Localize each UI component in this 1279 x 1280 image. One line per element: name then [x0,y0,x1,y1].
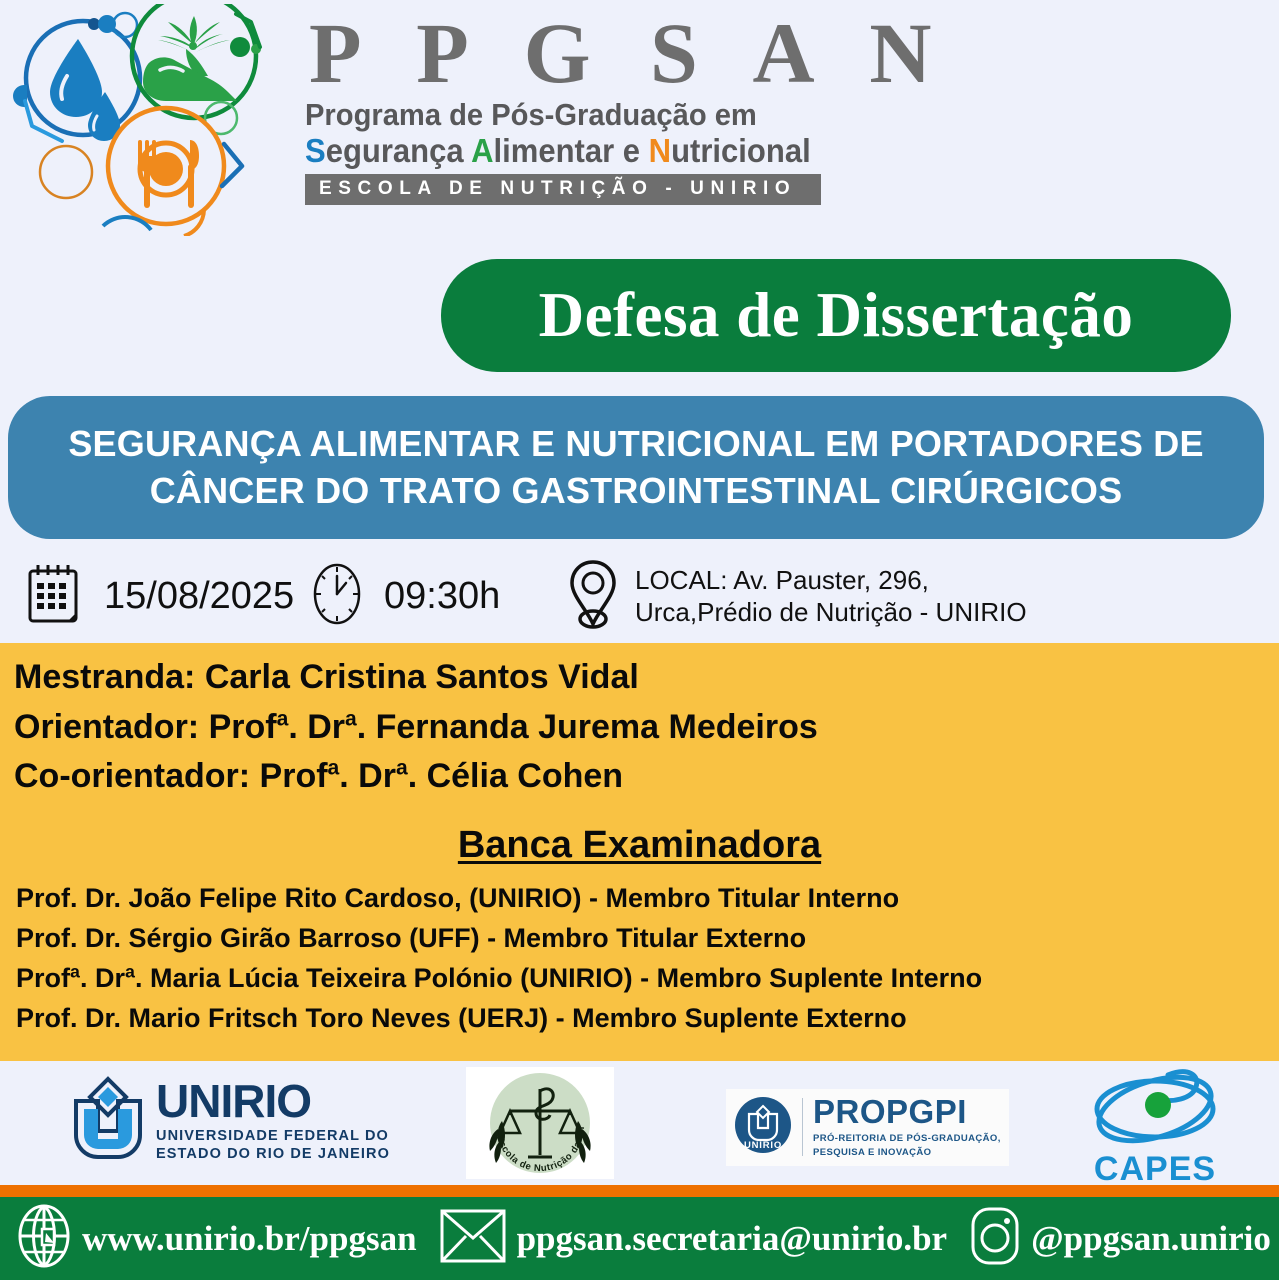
advisor-mid: . Dr [288,708,345,746]
thesis-title-line1: SEGURANÇA ALIMENTAR E NUTRICIONAL EM POR… [68,421,1203,467]
poster-root: P P G S A N Programa de Pós-Graduação em… [0,0,1279,1280]
advisor-label: Orientador: Prof [14,708,277,746]
logo-alimentar-rest: limentar e [493,132,648,169]
map-pin-icon [565,558,621,635]
location-line2: Urca,Prédio de Nutrição - UNIRIO [635,596,1027,629]
time-item: 09:30h [310,561,559,632]
board-heading: Banca Examinadora [0,824,1279,867]
date-item: 15/08/2025 [26,561,304,632]
unirio-sub2: ESTADO DO RIO DE JANEIRO [156,1145,390,1163]
logo-tagline-line1: Programa de Pós-Graduação em [305,98,817,133]
location-item: LOCAL: Av. Pauster, 296, Urca,Prédio de … [565,558,1027,635]
thesis-title-banner: SEGURANÇA ALIMENTAR E NUTRICIONAL EM POR… [8,396,1264,539]
website-text: www.unirio.br/ppgsan [82,1219,417,1259]
escola-nutricao-seal-icon: Escola de Nutrição da Unirio [466,1166,614,1183]
board-member: Profª. Drª. Maria Lúcia Teixeira Polónio… [16,959,1279,999]
capes-logo: CAPES [1080,1069,1230,1186]
propgpi-logo: UNIRIO PROPGPI PRÓ-REITORIA DE PÓS-GRADU… [726,1089,1009,1166]
propgpi-sub2: PESQUISA E INOVAÇÃO [813,1147,1001,1160]
student-line: Mestranda: Carla Cristina Santos Vidal [14,653,1279,703]
instagram-contact[interactable]: @ppgsan.unirio [969,1205,1271,1272]
website-contact[interactable]: www.unirio.br/ppgsan [16,1204,417,1273]
unirio-mark-icon [70,1075,146,1166]
sponsor-logos: UNIRIO UNIVERSIDADE FEDERAL DO ESTADO DO… [0,1061,1279,1185]
clock-icon [310,561,364,632]
svg-text:UNIRIO: UNIRIO [744,1140,782,1151]
instagram-text: @ppgsan.unirio [1031,1219,1271,1259]
unirio-sub1: UNIVERSIDADE FEDERAL DO [156,1127,390,1145]
logo-acronym: P P G S A N [309,8,850,98]
board-member: Prof. Dr. Sérgio Girão Barroso (UFF) - M… [16,919,1279,959]
propgpi-wordmark: PROPGPI PRÓ-REITORIA DE PÓS-GRADUAÇÃO, P… [813,1095,1001,1160]
envelope-icon [439,1206,507,1271]
event-date: 15/08/2025 [104,575,304,618]
logo-a-letter: A [471,132,493,169]
unirio-wordmark: UNIRIO UNIVERSIDADE FEDERAL DO ESTADO DO… [156,1078,390,1163]
propgpi-divider [802,1098,803,1156]
board-list: Prof. Dr. João Felipe Rito Cardoso, (UNI… [0,879,1279,1039]
logo-seguranca-rest: egurança [326,132,471,169]
capes-mark-icon [1080,1132,1230,1149]
logo-nutricional-rest: utricional [671,132,811,169]
thesis-title-line2: CÂNCER DO TRATO GASTROINTESTINAL CIRÚRGI… [150,468,1123,514]
advisor-line: Orientador: Profa. Dra. Fernanda Jurema … [14,703,1279,753]
logo-n-letter: N [649,132,671,169]
details-panel: Mestranda: Carla Cristina Santos Vidal O… [0,643,1279,1061]
event-type-pill: Defesa de Dissertação [441,259,1231,372]
unirio-name: UNIRIO [156,1078,390,1124]
header: P P G S A N Programa de Pós-Graduação em… [0,0,1279,243]
logo-school-strip: ESCOLA DE NUTRIÇÃO - UNIRIO [305,174,821,205]
logo-s-letter: S [305,132,326,169]
coadvisor-label: Co-orientador: Prof [14,757,328,795]
advisor-name: . Fernanda Jurema Medeiros [357,708,818,746]
advisor-sup-a2: a [345,707,357,730]
coadvisor-name: . Célia Cohen [408,757,623,795]
coadvisor-mid: . Dr [339,757,396,795]
email-contact[interactable]: ppgsan.secretaria@unirio.br [439,1206,948,1271]
calendar-icon [26,561,84,632]
coadvisor-line: Co-orientador: Profa. Dra. Célia Cohen [14,752,1279,802]
contact-footer: www.unirio.br/ppgsan ppgsan.secretaria@u… [0,1197,1279,1280]
coadvisor-sup-a1: a [328,757,340,780]
ppgsan-logo-icon [8,4,303,236]
board-member: Prof. Dr. João Felipe Rito Cardoso, (UNI… [16,879,1279,919]
unirio-logo: UNIRIO UNIVERSIDADE FEDERAL DO ESTADO DO… [70,1075,390,1166]
event-time: 09:30h [384,575,559,618]
orange-divider [0,1185,1279,1197]
globe-icon [16,1204,72,1273]
event-details-row: 15/08/2025 09:30h [0,550,1279,642]
event-type-label: Defesa de Dissertação [539,279,1134,352]
instagram-icon [969,1205,1021,1272]
board-member: Prof. Dr. Mario Fritsch Toro Neves (UERJ… [16,999,1279,1039]
location-text: LOCAL: Av. Pauster, 296, Urca,Prédio de … [635,564,1027,629]
logo-wordmark: P P G S A N Programa de Pós-Graduação em… [305,8,850,205]
advisor-sup-a1: a [277,707,289,730]
location-line1: LOCAL: Av. Pauster, 296, [635,564,1027,597]
student-label: Mestranda: [14,658,205,696]
email-text: ppgsan.secretaria@unirio.br [517,1219,948,1259]
student-name: Carla Cristina Santos Vidal [205,658,639,696]
propgpi-name: PROPGPI [813,1095,1001,1128]
capes-name: CAPES [1080,1152,1230,1186]
propgpi-badge-icon: UNIRIO [734,1096,792,1159]
people-block: Mestranda: Carla Cristina Santos Vidal O… [0,643,1279,802]
logo-tagline-line2: Segurança Alimentar e Nutricional [305,133,817,170]
propgpi-sub1: PRÓ-REITORIA DE PÓS-GRADUAÇÃO, [813,1133,1001,1146]
coadvisor-sup-a2: a [396,757,408,780]
escola-nutricao-seal-logo: Escola de Nutrição da Unirio [466,1067,614,1184]
